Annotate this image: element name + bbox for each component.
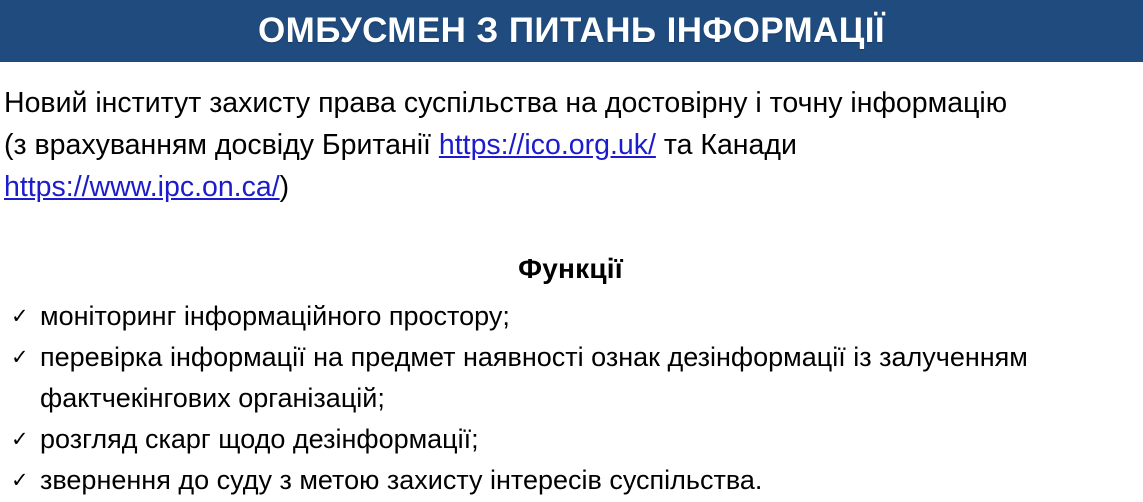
list-item-label-continued: фактчекінгових організацій; <box>40 383 385 413</box>
ipc-link[interactable]: https://www.ipc.on.ca/ <box>4 171 280 203</box>
intro-line-3-suffix: ) <box>280 171 290 203</box>
intro-line-2: (з врахуванням досвіду Британії https://… <box>4 124 1139 166</box>
intro-line-1: Новий інститут захисту права суспільства… <box>4 82 1139 124</box>
list-item-label: розгляд скарг щодо дезінформації; <box>40 419 1143 460</box>
intro-line-2-prefix: (з врахуванням досвіду Британії <box>4 129 439 161</box>
check-icon: ✓ <box>11 337 29 378</box>
intro-line-3: https://www.ipc.on.ca/) <box>4 166 1139 208</box>
list-item: ✓ звернення до суду з метою захисту інте… <box>0 460 1143 501</box>
page-title: ОМБУСМЕН З ПИТАНЬ ІНФОРМАЦІЇ <box>258 13 885 48</box>
ico-link[interactable]: https://ico.org.uk/ <box>439 129 656 161</box>
intro-line-1-text: Новий інститут захисту права суспільства… <box>4 87 1007 119</box>
list-item-label: перевірка інформації на предмет наявност… <box>40 337 1143 378</box>
check-icon: ✓ <box>11 460 29 501</box>
list-item: ✓ моніторинг інформаційного простору; <box>0 296 1143 337</box>
list-item-label: моніторинг інформаційного простору; <box>40 296 1143 337</box>
functions-list: ✓ моніторинг інформаційного простору; ✓ … <box>0 296 1143 501</box>
list-item-label: звернення до суду з метою захисту інтере… <box>40 460 1143 501</box>
list-item: ✓ розгляд скарг щодо дезінформації; <box>0 419 1143 460</box>
check-icon: ✓ <box>11 296 29 337</box>
list-item: ✓ перевірка інформації на предмет наявно… <box>0 337 1143 419</box>
intro-paragraph: Новий інститут захисту права суспільства… <box>4 82 1139 208</box>
intro-line-2-suffix: та Канади <box>656 129 797 161</box>
slide: ОМБУСМЕН З ПИТАНЬ ІНФОРМАЦІЇ Новий інсти… <box>0 0 1143 502</box>
functions-heading: Функції <box>0 252 1143 286</box>
title-banner: ОМБУСМЕН З ПИТАНЬ ІНФОРМАЦІЇ <box>0 0 1143 62</box>
check-icon: ✓ <box>11 419 29 460</box>
